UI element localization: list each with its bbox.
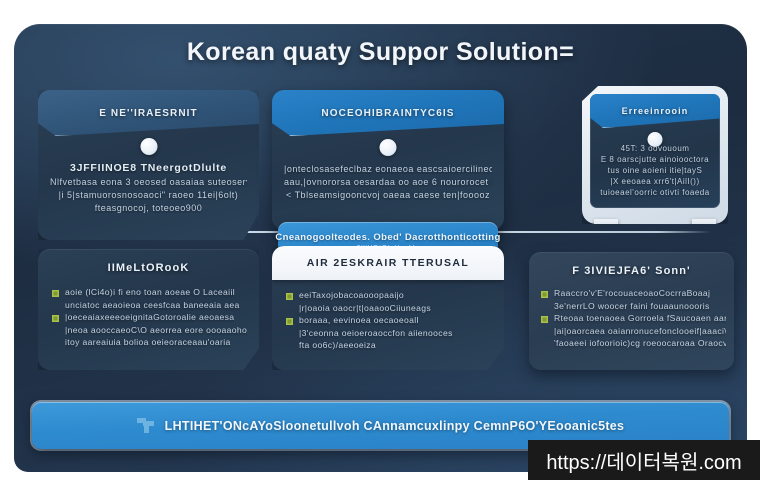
bottom-card-3-body: F 3IVIEJFA6' Sonn' Raaccro'v'E'rocouaceo… <box>529 252 734 370</box>
list-item: |neoa aooccaeoC\O aeorrea eore oooaaohoa <box>52 325 247 337</box>
blocks-icon <box>137 418 155 433</box>
list-item: aoie (lCi4o)i fi eno toan aoeae O Laceai… <box>52 287 247 299</box>
list-item: eeiTaxojobacoaooopaaijo <box>286 290 492 302</box>
circle-icon <box>380 139 397 156</box>
top-card-3-header: Erreeinrooin <box>590 94 720 128</box>
bullet-square-icon <box>286 293 293 300</box>
top-card-2-lines: |onteclosasefeclbaz eonaeoa eascsaioerci… <box>284 164 492 200</box>
list-item: 'faoaeei iofoorioic)cg roeoocaroaa Oraoc… <box>541 338 726 350</box>
bottom-card-3-list: Raaccro'v'E'rocouaceoaoCocrraBoaaj 3e'ne… <box>541 288 726 351</box>
bottom-card-2-header: AIR 2ESKRAIR TTERUSAL <box>272 246 504 280</box>
bullet-square-icon <box>286 318 293 325</box>
infographic-screenshot: Korean quaty Suppor Solution= E NE''IRAE… <box>0 0 760 480</box>
top-card-2-body: NOCEOHIBRAINTYC6IS |onteclosasefeclbaz e… <box>272 90 504 230</box>
list-item: Rteoaa toenaoea Gorroela fSaucoaen aaneo… <box>541 313 726 325</box>
bullet-square-icon <box>541 291 548 298</box>
list-item: 3e'nerrLO woocer faini fouaaunoooris <box>541 301 726 313</box>
top-card-3-screen: Erreeinrooin 45T: 3 oovououm E 8 oarscju… <box>590 94 720 208</box>
top-card-1-header: E NE''IRAESRNIT <box>38 90 259 136</box>
bottom-card-2-body: AIR 2ESKRAIR TTERUSAL eeiTaxojobacoaooop… <box>272 246 504 370</box>
list-item: |3'ceonna oeioeroaoccfon aiienooces <box>286 328 492 340</box>
list-item: unciatoc aeaoieoa ceesfcaa baneeaia aea <box>52 300 247 312</box>
top-card-1[interactable]: E NE''IRAESRNIT 3JFFIINOE8 TNeergotDlult… <box>38 90 259 240</box>
watermark: https://데이터복원.com <box>528 440 760 480</box>
bottom-card-2[interactable]: AIR 2ESKRAIR TTERUSAL eeiTaxojobacoaooop… <box>272 246 504 370</box>
bottom-card-3-title: F 3IVIEJFA6' Sonn' <box>529 265 734 277</box>
top-card-2-header: NOCEOHIBRAINTYC6IS <box>272 90 504 136</box>
bottom-card-1-list: aoie (lCi4o)i fi eno toan aoeae O Laceai… <box>52 287 247 350</box>
list-item: Raaccro'v'E'rocouaceoaoCocrraBoaaj <box>541 288 726 300</box>
list-item: |ai|oaorcaea oaianronucefonclooeif|aaaci… <box>541 326 726 338</box>
bullet-square-icon <box>541 316 548 323</box>
top-card-1-lines: 3JFFIINOE8 TNeergotDlulte Nlfvetbasa eon… <box>50 162 247 213</box>
bottom-card-2-list: eeiTaxojobacoaooopaaijo |r|oaoia oaocr|t… <box>286 290 492 353</box>
bottom-card-3[interactable]: F 3IVIEJFA6' Sonn' Raaccro'v'E'rocouaceo… <box>529 252 734 370</box>
top-card-3-device-frame[interactable]: Erreeinrooin 45T: 3 oovououm E 8 oarscju… <box>582 86 728 224</box>
circle-icon <box>140 138 157 155</box>
bottom-card-1-title: IIMeLtORooK <box>38 262 259 274</box>
page-title: Korean quaty Suppor Solution= <box>14 38 747 67</box>
watermark-text: https://데이터복원.com <box>546 446 741 475</box>
top-card-1-body: E NE''IRAESRNIT 3JFFIINOE8 TNeergotDlult… <box>38 90 259 240</box>
bottom-banner-label: LHTIHET'ONcAYoSloonetullvoh CAnnamcuxlin… <box>165 419 625 433</box>
top-card-2[interactable]: NOCEOHIBRAINTYC6IS |onteclosasefeclbaz e… <box>272 90 504 230</box>
list-item: itoy aareaiuia bolioa oeieoraceaau'oaria <box>52 337 247 349</box>
bullet-square-icon <box>52 315 59 322</box>
list-item: |oeceaiaxeeeoeignitaGotoroalie aeoaesa <box>52 312 247 324</box>
bottom-card-1-body: IIMeLtORooK aoie (lCi4o)i fi eno toan ao… <box>38 249 259 370</box>
bottom-card-1[interactable]: IIMeLtORooK aoie (lCi4o)i fi eno toan ao… <box>38 249 259 370</box>
list-item: boraaa, eevinoea oecaoeoall <box>286 315 492 327</box>
list-item: fta oo6c)/aeeoeiza <box>286 340 492 352</box>
list-item: |r|oaoia oaocr|t|oaaooCiiuneags <box>286 303 492 315</box>
bullet-square-icon <box>52 290 59 297</box>
top-card-3-lines: 45T: 3 oovououm E 8 oarscjutte ainoiooct… <box>596 144 714 197</box>
main-panel: Korean quaty Suppor Solution= E NE''IRAE… <box>14 24 747 472</box>
